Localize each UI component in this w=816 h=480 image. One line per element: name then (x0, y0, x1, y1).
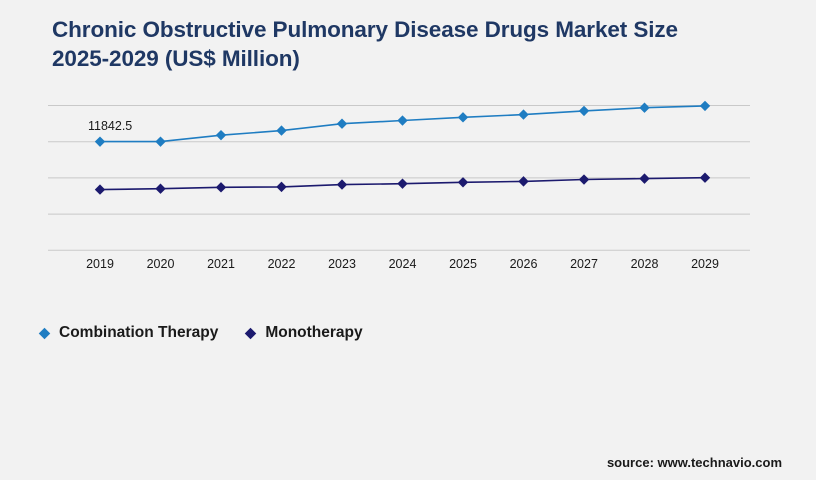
data-point-marker[interactable] (700, 101, 710, 111)
series-layer (95, 101, 710, 195)
x-axis-tick-label: 2021 (191, 257, 251, 271)
x-axis-tick-label: 2027 (554, 257, 614, 271)
data-point-marker[interactable] (216, 182, 226, 192)
x-axis-tick-label: 2026 (494, 257, 554, 271)
data-point-marker[interactable] (458, 112, 468, 122)
data-point-marker[interactable] (95, 136, 105, 146)
x-axis-tick-label: 2028 (615, 257, 675, 271)
data-point-marker[interactable] (397, 178, 407, 188)
data-point-marker[interactable] (639, 173, 649, 183)
x-axis-tick-label: 2022 (252, 257, 312, 271)
chart-page: Chronic Obstructive Pulmonary Disease Dr… (0, 0, 816, 480)
data-point-marker[interactable] (155, 136, 165, 146)
source-note: source: www.technavio.com (607, 455, 782, 470)
legend-item-label: Monotherapy (265, 324, 362, 342)
data-point-marker[interactable] (700, 173, 710, 183)
data-label-first-point: 11842.5 (88, 119, 132, 133)
legend-item-label: Combination Therapy (59, 324, 218, 342)
data-point-marker[interactable] (216, 130, 226, 140)
x-axis-tick-label: 2025 (433, 257, 493, 271)
data-point-marker[interactable] (579, 174, 589, 184)
data-point-marker[interactable] (639, 103, 649, 113)
x-axis-tick-label: 2023 (312, 257, 372, 271)
x-axis-tick-label: 2019 (70, 257, 130, 271)
x-axis-tick-label: 2020 (131, 257, 191, 271)
data-point-marker[interactable] (579, 106, 589, 116)
data-point-marker[interactable] (397, 115, 407, 125)
data-point-marker[interactable] (276, 182, 286, 192)
chart-legend: Combination TherapyMonotherapy (38, 324, 363, 342)
diamond-icon (244, 327, 257, 340)
plot-area: 11842.5 20192020202120222023202420252026… (0, 0, 816, 300)
data-point-marker[interactable] (155, 183, 165, 193)
legend-item[interactable]: Combination Therapy (38, 324, 218, 342)
legend-item[interactable]: Monotherapy (244, 324, 362, 342)
data-point-marker[interactable] (337, 179, 347, 189)
data-point-marker[interactable] (95, 184, 105, 194)
data-point-marker[interactable] (276, 125, 286, 135)
x-axis-tick-label: 2024 (373, 257, 433, 271)
line-chart-svg (0, 0, 816, 300)
data-point-marker[interactable] (458, 177, 468, 187)
data-point-marker[interactable] (518, 109, 528, 119)
diamond-icon (38, 327, 51, 340)
x-axis-tick-label: 2029 (675, 257, 735, 271)
data-point-marker[interactable] (337, 119, 347, 129)
